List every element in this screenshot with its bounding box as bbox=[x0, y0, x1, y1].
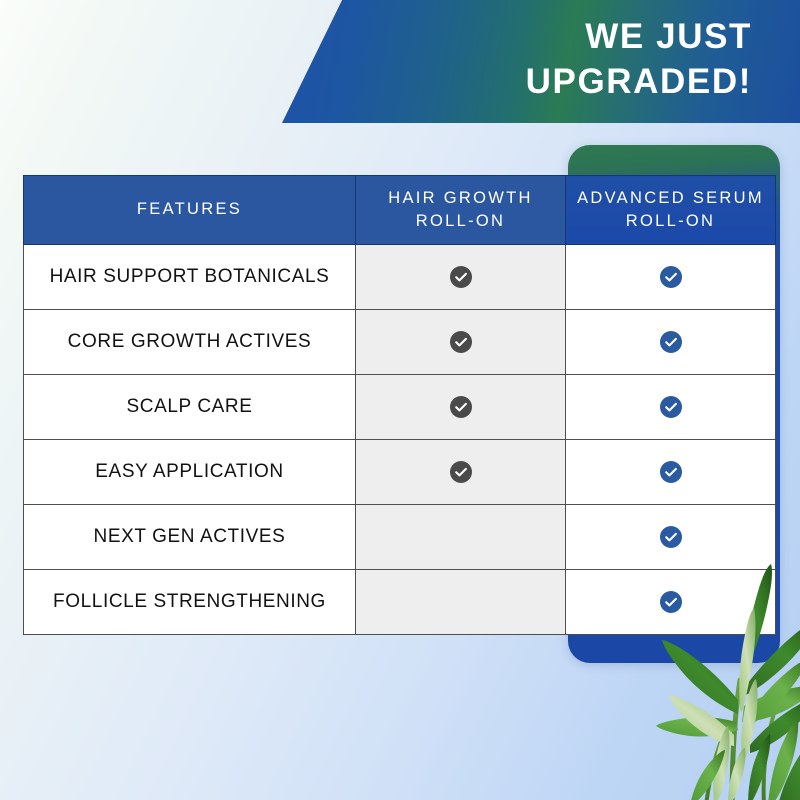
basic-product-cell bbox=[356, 440, 566, 505]
check-icon bbox=[660, 396, 682, 418]
feature-name-cell: SCALP CARE bbox=[24, 375, 356, 440]
premium-product-cell bbox=[566, 245, 776, 310]
premium-product-cell bbox=[566, 375, 776, 440]
check-icon bbox=[660, 331, 682, 353]
check-icon bbox=[450, 331, 472, 353]
feature-name-cell: HAIR SUPPORT BOTANICALS bbox=[24, 245, 356, 310]
premium-product-cell bbox=[566, 570, 776, 635]
header-banner: WE JUST UPGRADED! bbox=[282, 0, 800, 123]
premium-product-cell bbox=[566, 505, 776, 570]
column-header-premium-line1: ADVANCED SERUM bbox=[577, 189, 764, 207]
table-row: HAIR SUPPORT BOTANICALS bbox=[24, 245, 776, 310]
column-header-basic-line1: HAIR GROWTH bbox=[388, 189, 532, 207]
basic-product-cell bbox=[356, 570, 566, 635]
plant-stems bbox=[706, 680, 778, 800]
table-header-row: FEATURES HAIR GROWTH ROLL-ON ADVANCED SE… bbox=[24, 176, 776, 245]
empty-cell-marker bbox=[450, 524, 472, 546]
check-icon bbox=[660, 461, 682, 483]
basic-product-cell bbox=[356, 245, 566, 310]
check-icon bbox=[660, 591, 682, 613]
column-header-features-label: FEATURES bbox=[137, 200, 242, 218]
premium-product-cell bbox=[566, 310, 776, 375]
column-header-hair-growth-roll-on: HAIR GROWTH ROLL-ON bbox=[356, 176, 566, 245]
column-header-advanced-serum-roll-on: ADVANCED SERUM ROLL-ON bbox=[566, 176, 776, 245]
basic-product-cell bbox=[356, 310, 566, 375]
feature-name-cell: EASY APPLICATION bbox=[24, 440, 356, 505]
check-icon bbox=[450, 396, 472, 418]
banner-headline-line2: UPGRADED! bbox=[526, 60, 752, 105]
banner-headline-line1: WE JUST bbox=[585, 15, 752, 60]
column-header-premium-line2: ROLL-ON bbox=[626, 212, 715, 230]
feature-name-cell: CORE GROWTH ACTIVES bbox=[24, 310, 356, 375]
column-header-features: FEATURES bbox=[24, 176, 356, 245]
table-row: CORE GROWTH ACTIVES bbox=[24, 310, 776, 375]
feature-name-cell: FOLLICLE STRENGTHENING bbox=[24, 570, 356, 635]
basic-product-cell bbox=[356, 375, 566, 440]
comparison-table-container: FEATURES HAIR GROWTH ROLL-ON ADVANCED SE… bbox=[23, 175, 775, 628]
table-row: FOLLICLE STRENGTHENING bbox=[24, 570, 776, 635]
infographic-canvas: WE JUST UPGRADED! FEATURES HAIR GROWTH R… bbox=[0, 0, 800, 800]
basic-product-cell bbox=[356, 505, 566, 570]
premium-product-cell bbox=[566, 440, 776, 505]
check-icon bbox=[450, 461, 472, 483]
table-body: HAIR SUPPORT BOTANICALSCORE GROWTH ACTIV… bbox=[24, 245, 776, 635]
table-row: NEXT GEN ACTIVES bbox=[24, 505, 776, 570]
table-row: EASY APPLICATION bbox=[24, 440, 776, 505]
empty-cell-marker bbox=[450, 589, 472, 611]
check-icon bbox=[450, 266, 472, 288]
table-row: SCALP CARE bbox=[24, 375, 776, 440]
feature-name-cell: NEXT GEN ACTIVES bbox=[24, 505, 356, 570]
column-header-basic-line2: ROLL-ON bbox=[416, 212, 505, 230]
comparison-table: FEATURES HAIR GROWTH ROLL-ON ADVANCED SE… bbox=[23, 175, 776, 635]
check-icon bbox=[660, 266, 682, 288]
table-header: FEATURES HAIR GROWTH ROLL-ON ADVANCED SE… bbox=[24, 176, 776, 245]
check-icon bbox=[660, 526, 682, 548]
